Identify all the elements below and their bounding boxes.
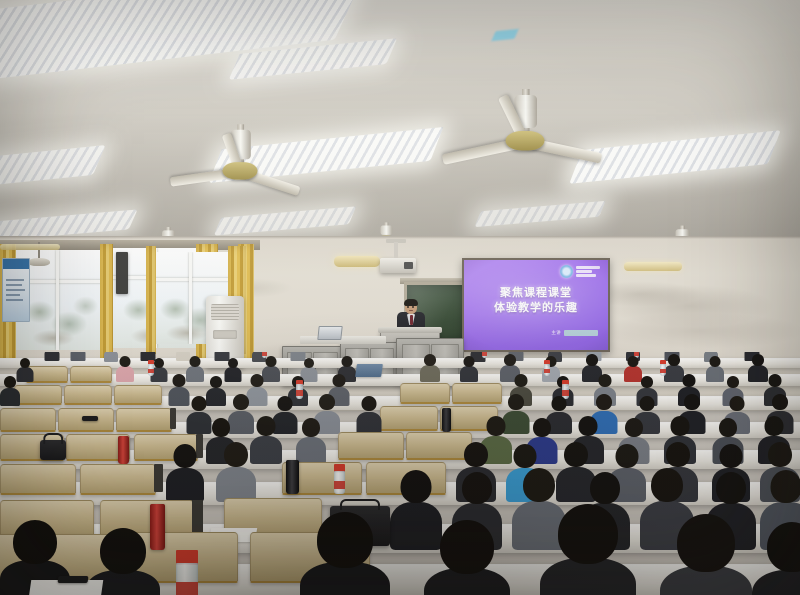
ceiling-fan: [213, 124, 267, 183]
projector-lens-icon: [404, 262, 413, 269]
seat-divider: [170, 408, 176, 429]
list-item: [116, 356, 134, 380]
ceiling-fan: [495, 89, 555, 155]
water-bottle: [544, 360, 550, 376]
open-laptop: [355, 364, 383, 377]
projection-screen: 聚焦课程课堂 体验教学的乐趣 主讲: [462, 258, 610, 352]
ac-control-panel: [213, 330, 237, 339]
thermos-flask: [442, 408, 451, 432]
seat-divider: [192, 500, 203, 536]
list-item: [216, 442, 256, 500]
window-curtain: [146, 246, 156, 354]
water-bottle: [334, 464, 345, 494]
seat-back: [380, 406, 438, 431]
ceiling-mounted-projector: [380, 258, 416, 273]
thermos-flask: [118, 436, 129, 464]
list-item: [166, 444, 204, 500]
projector-mount-pole: [394, 242, 398, 258]
water-bottle: [148, 360, 154, 376]
seat-back: [80, 464, 156, 495]
water-bottle: [660, 360, 666, 376]
front-desk: [300, 336, 386, 344]
seat-back: [0, 408, 56, 432]
list-item: [424, 520, 510, 595]
seat-back: [452, 383, 502, 404]
thermos-flask: [286, 460, 299, 494]
pendant-lamp-icon: [28, 250, 50, 266]
seat-divider: [154, 464, 163, 492]
seat-back: [14, 385, 62, 405]
wall-light-fixture: [624, 262, 682, 271]
lecture-hall-photo: 聚焦课程课堂 体验教学的乐趣 主讲: [0, 0, 800, 595]
water-bottle: [176, 550, 198, 595]
seat-back: [114, 385, 162, 405]
water-bottle: [482, 352, 487, 358]
open-laptop: [317, 326, 342, 340]
ac-vent-grill: [211, 304, 239, 320]
list-item: [660, 514, 752, 595]
list-item: [70, 352, 85, 360]
list-item: [420, 354, 440, 380]
ceiling: [0, 0, 800, 250]
mobile-phone: [58, 576, 89, 583]
seat-back: [70, 366, 112, 383]
seat-back: [64, 385, 112, 405]
list-item: [540, 504, 636, 595]
list-item: [224, 358, 241, 380]
list-item: [460, 356, 478, 380]
audience-seating-area: [0, 352, 800, 595]
list-item: [44, 352, 59, 360]
water-bottle: [296, 380, 303, 399]
list-item: [300, 512, 390, 595]
wall-light-fixture: [334, 256, 380, 267]
shoulder-bag: [40, 440, 66, 460]
seat-back: [116, 408, 172, 432]
window-curtain: [100, 244, 113, 362]
list-item: [0, 376, 20, 404]
mobile-phone: [82, 416, 98, 421]
seat-back: [338, 432, 404, 460]
wall-speaker-icon: [116, 252, 128, 294]
list-item: [356, 396, 381, 432]
list-item: [296, 418, 326, 462]
list-item: [752, 522, 800, 595]
wall-light-fixture: [0, 244, 60, 250]
thermos-flask: [150, 504, 165, 550]
blue-wall-notice: [2, 258, 30, 322]
seat-back: [0, 464, 76, 495]
seat-back: [400, 383, 450, 404]
